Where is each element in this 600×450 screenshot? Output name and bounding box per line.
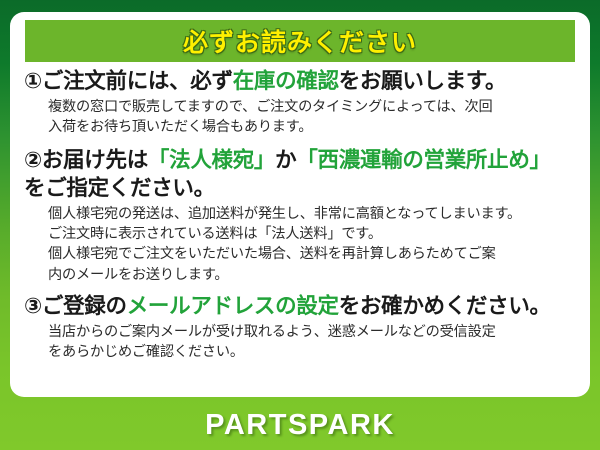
notice-item-3-emphasis: メールアドレスの設定: [127, 294, 339, 318]
brand-name: PARTSPARK: [205, 409, 395, 442]
notice-item-3-head-text-a: ご登録の: [42, 294, 127, 318]
notice-item-3-body-line-2: をあらかじめご確認ください。: [48, 342, 576, 362]
notice-item-3-body-line-1: 当店からのご案内メールが受け取れるよう、迷惑メールなどの受信設定: [48, 322, 576, 342]
notice-item-2-body-line-1: 個人様宅宛の発送は、追加送料が発生し、非常に高額となってしまいます。: [48, 204, 576, 224]
notice-card: 必ずお読みください ①ご注文前には、必ず在庫の確認をお願いします。 複数の窓口で…: [10, 12, 590, 397]
notice-item-3: ③ご登録のメールアドレスの設定をお確かめください。 当店からのご案内メールが受け…: [10, 293, 590, 362]
notice-item-1-head-text-b: をお願いします。: [339, 69, 506, 93]
notice-item-2-body-line-4: 内のメールをお送りします。: [48, 265, 576, 285]
notice-item-2-emphasis-1: 「法人様宛」: [148, 148, 275, 172]
notice-item-2-head-text-a: お届け先は: [42, 148, 148, 172]
notice-item-3-head-text-b: をお確かめください。: [339, 294, 551, 318]
title-bar: 必ずお読みください: [25, 20, 575, 62]
notice-item-2-body-line-2: ご注文時に表示されている送料は「法人送料」です。: [48, 224, 576, 244]
notice-item-2-body-line-3: 個人様宅宛でご注文をいただいた場合、送料を再計算しあらためてご案: [48, 244, 576, 264]
notice-item-1-heading: ①ご注文前には、必ず在庫の確認をお願いします。: [10, 68, 590, 96]
notice-item-2: ②お届け先は「法人様宛」か「西濃運輸の営業所止め」 をご指定ください。 個人様宅…: [10, 147, 590, 285]
notice-item-2-body: 個人様宅宛の発送は、追加送料が発生し、非常に高額となってしまいます。 ご注文時に…: [10, 203, 590, 285]
notice-item-1-number: ①: [24, 69, 42, 93]
banner-title: 必ずお読みください: [183, 23, 417, 59]
notice-item-1-body-line-2: 入荷をお待ち頂いただく場合もあります。: [48, 117, 576, 137]
notice-item-2-number: ②: [24, 148, 42, 172]
notice-item-2-heading-line-2: をご指定ください。: [10, 175, 590, 203]
notice-item-3-heading: ③ご登録のメールアドレスの設定をお確かめください。: [10, 293, 590, 321]
notice-item-1-body: 複数の窓口で販売してますので、ご注文のタイミングによっては、次回 入荷をお待ち頂…: [10, 96, 590, 137]
notice-item-2-heading: ②お届け先は「法人様宛」か「西濃運輸の営業所止め」: [10, 147, 590, 175]
notice-item-2-emphasis-2: 「西濃運輸の営業所止め」: [296, 148, 550, 172]
notice-banner: 必ずお読みください ①ご注文前には、必ず在庫の確認をお願いします。 複数の窓口で…: [0, 0, 600, 450]
notice-item-1-body-line-1: 複数の窓口で販売してますので、ご注文のタイミングによっては、次回: [48, 97, 576, 117]
notice-item-1-emphasis: 在庫の確認: [233, 69, 339, 93]
notice-item-1: ①ご注文前には、必ず在庫の確認をお願いします。 複数の窓口で販売してますので、ご…: [10, 68, 590, 137]
notice-list: ①ご注文前には、必ず在庫の確認をお願いします。 複数の窓口で販売してますので、ご…: [10, 68, 590, 364]
notice-item-2-head-text-b: か: [275, 148, 296, 172]
notice-item-1-head-text-a: ご注文前には、必ず: [42, 69, 233, 93]
notice-item-3-number: ③: [24, 294, 42, 318]
brand-footer: PARTSPARK: [0, 400, 600, 450]
notice-item-3-body: 当店からのご案内メールが受け取れるよう、迷惑メールなどの受信設定 をあらかじめご…: [10, 321, 590, 362]
